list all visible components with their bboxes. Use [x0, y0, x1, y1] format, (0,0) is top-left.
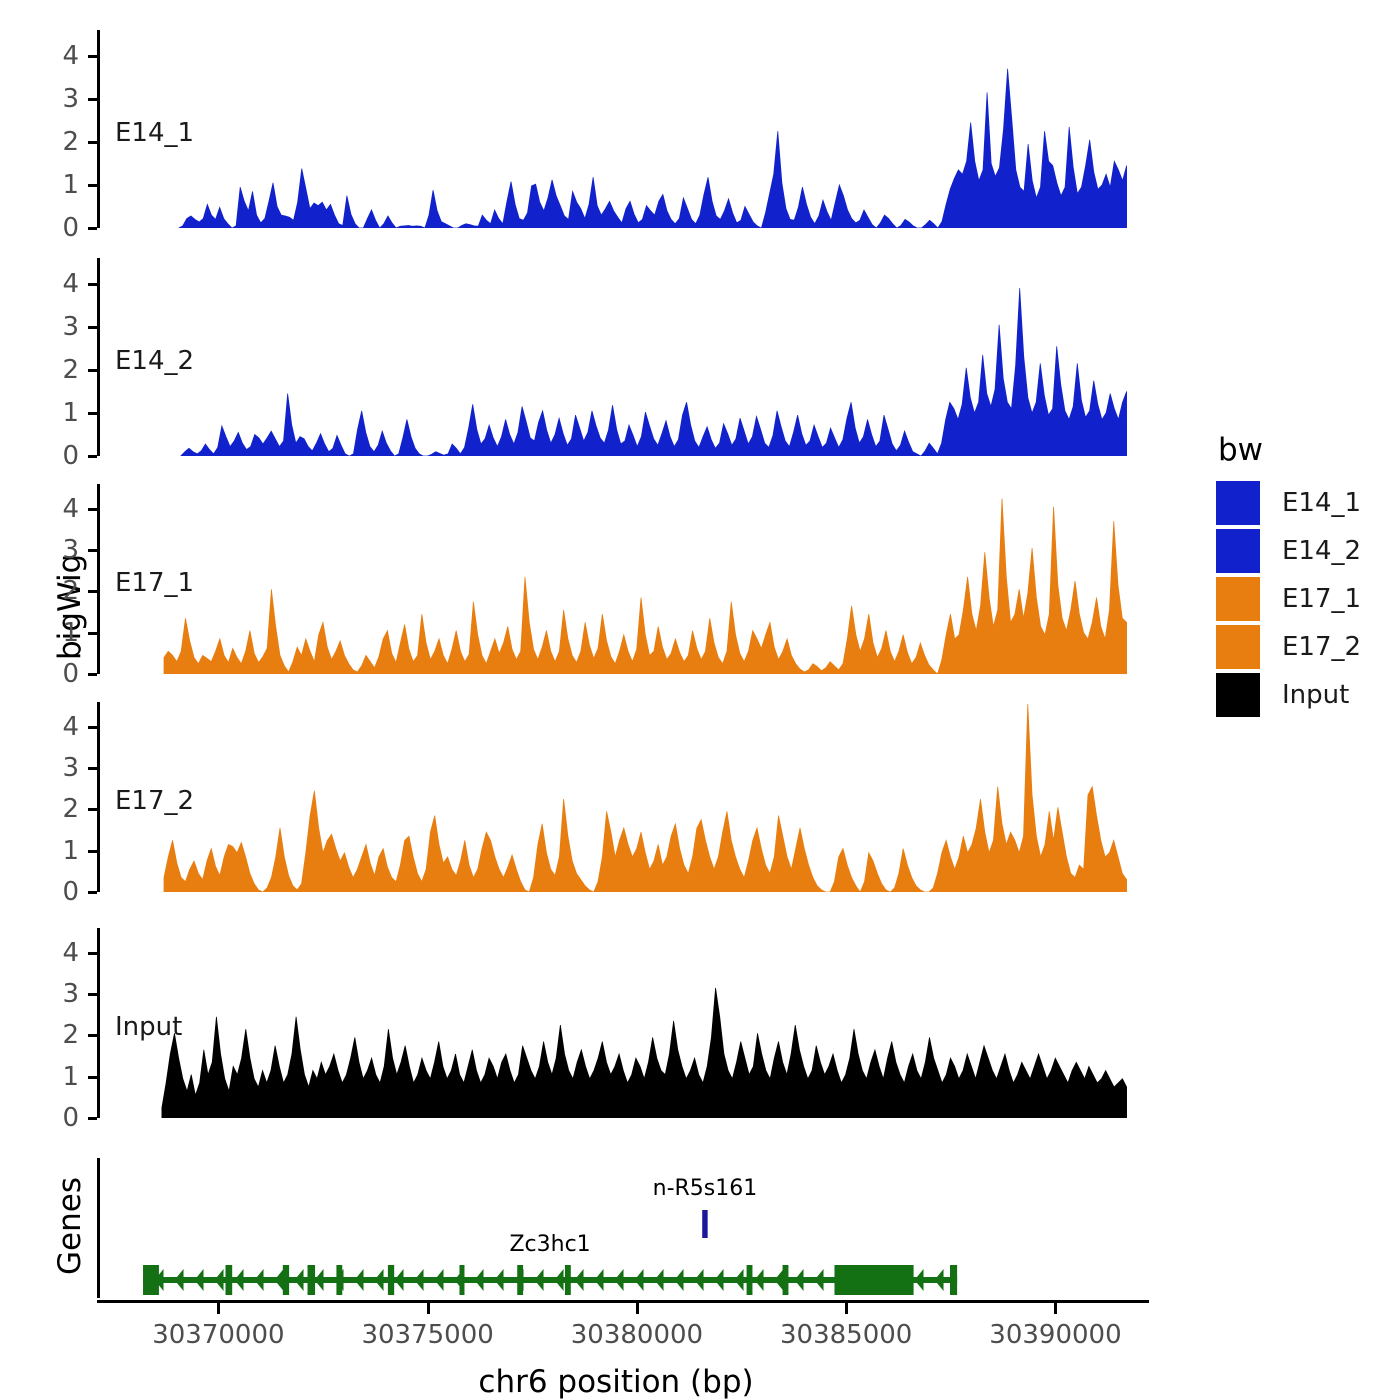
ncrna-feature	[702, 1210, 707, 1238]
gene-exon	[747, 1265, 753, 1295]
y-tick	[88, 673, 97, 676]
y-tick-label: 4	[29, 938, 79, 968]
y-tick-label: 4	[29, 494, 79, 524]
strand-arrow	[715, 1269, 724, 1291]
y-tick-label: 1	[29, 836, 79, 866]
track-area-e17_2	[97, 702, 1135, 892]
y-tick-label: 4	[29, 269, 79, 299]
x-tick	[217, 1303, 220, 1314]
y-tick-label: 4	[29, 41, 79, 71]
y-tick	[88, 891, 97, 894]
legend-label: E17_1	[1282, 584, 1361, 614]
track-panel-e14_1: 01234E14_1	[97, 30, 1135, 228]
strand-arrow	[915, 1269, 924, 1291]
x-tick	[427, 1303, 430, 1314]
x-tick	[636, 1303, 639, 1314]
strand-arrow	[535, 1269, 544, 1291]
y-tick	[88, 55, 97, 58]
y-tick-label: 4	[29, 712, 79, 742]
y-tick	[88, 412, 97, 415]
y-tick-label: 2	[29, 576, 79, 606]
y-tick-label: 2	[29, 127, 79, 157]
y-tick-label: 0	[29, 441, 79, 471]
x-axis-line	[97, 1300, 1149, 1303]
y-tick	[88, 767, 97, 770]
strand-arrow	[735, 1269, 744, 1291]
y-tick-label: 3	[29, 312, 79, 342]
legend-title: bw	[1218, 432, 1361, 468]
legend: bw E14_1E14_2E17_1E17_2Input	[1216, 432, 1361, 720]
strand-arrow	[275, 1269, 284, 1291]
y-tick-label: 0	[29, 213, 79, 243]
gene-exon	[308, 1265, 316, 1295]
legend-swatch-e17_1	[1216, 577, 1260, 621]
strand-arrow	[575, 1269, 584, 1291]
legend-swatch-e14_2	[1216, 529, 1260, 573]
strand-arrow	[475, 1269, 484, 1291]
y-tick	[88, 369, 97, 372]
y-tick	[88, 952, 97, 955]
track-area-input	[97, 928, 1135, 1118]
y-tick	[88, 326, 97, 329]
gene-label-zc3hc1: Zc3hc1	[509, 1232, 590, 1257]
y-tick	[88, 141, 97, 144]
y-tick-label: 0	[29, 1103, 79, 1133]
legend-items: E14_1E14_2E17_1E17_2Input	[1216, 480, 1361, 718]
gene-exon	[388, 1265, 394, 1295]
gene-exon	[283, 1265, 289, 1295]
y-tick-label: 1	[29, 170, 79, 200]
legend-item-e14_2[interactable]: E14_2	[1216, 528, 1361, 574]
x-tick	[845, 1303, 848, 1314]
track-panel-input: 01234Input	[97, 928, 1135, 1118]
y-tick-label: 1	[29, 398, 79, 428]
strand-arrow	[595, 1269, 604, 1291]
x-axis-title: chr6 position (bp)	[478, 1364, 753, 1400]
gene-exon	[565, 1265, 571, 1295]
track-panel-e17_2: 01234E17_2	[97, 702, 1135, 892]
y-tick	[88, 508, 97, 511]
legend-item-e17_1[interactable]: E17_1	[1216, 576, 1361, 622]
strand-arrow	[235, 1269, 244, 1291]
strand-arrow	[215, 1269, 224, 1291]
y-tick-label: 3	[29, 84, 79, 114]
strand-arrow	[195, 1269, 204, 1291]
legend-label: E17_2	[1282, 632, 1361, 662]
strand-arrow	[775, 1269, 784, 1291]
y-tick	[88, 726, 97, 729]
track-area-e17_1	[97, 484, 1135, 674]
strand-arrow	[815, 1269, 824, 1291]
y-tick	[88, 1117, 97, 1120]
y-tick	[88, 184, 97, 187]
strand-arrow	[635, 1269, 644, 1291]
track-panel-e17_1: 01234E17_1	[97, 484, 1135, 674]
strand-arrow	[295, 1269, 304, 1291]
y-tick-label: 3	[29, 535, 79, 565]
y-tick	[88, 98, 97, 101]
legend-item-e14_1[interactable]: E14_1	[1216, 480, 1361, 526]
strand-arrow	[615, 1269, 624, 1291]
legend-label: Input	[1282, 680, 1349, 710]
track-panel-e14_2: 01234E14_2	[97, 258, 1135, 456]
legend-swatch-e14_1	[1216, 481, 1260, 525]
track-area-e14_2	[97, 258, 1135, 456]
y-tick-label: 2	[29, 1020, 79, 1050]
strand-arrow	[395, 1269, 404, 1291]
strand-arrow	[555, 1269, 564, 1291]
legend-swatch-input	[1216, 673, 1260, 717]
y-tick-label: 2	[29, 355, 79, 385]
genes-axis-line	[97, 1158, 100, 1298]
strand-arrow	[255, 1269, 264, 1291]
legend-label: E14_1	[1282, 488, 1361, 518]
x-tick-label: 30390000	[989, 1320, 1121, 1350]
y-tick-label: 3	[29, 979, 79, 1009]
legend-swatch-e17_2	[1216, 625, 1260, 669]
track-area-e14_1	[97, 30, 1135, 228]
y-tick	[88, 227, 97, 230]
x-tick-label: 30385000	[780, 1320, 912, 1350]
x-tick	[1054, 1303, 1057, 1314]
y-tick	[88, 850, 97, 853]
y-tick	[88, 1034, 97, 1037]
y-tick	[88, 455, 97, 458]
y-tick	[88, 549, 97, 552]
strand-arrow	[435, 1269, 444, 1291]
strand-arrow	[355, 1269, 364, 1291]
y-tick	[88, 1076, 97, 1079]
y-tick	[88, 808, 97, 811]
y-tick-label: 1	[29, 1062, 79, 1092]
y-tick	[88, 590, 97, 593]
strand-arrow	[175, 1269, 184, 1291]
strand-arrow	[315, 1269, 324, 1291]
y-tick-label: 0	[29, 659, 79, 689]
strand-arrow	[415, 1269, 424, 1291]
strand-arrow	[455, 1269, 464, 1291]
genes-panel: n-R5s161Zc3hc1	[0, 1158, 1400, 1298]
strand-arrow	[655, 1269, 664, 1291]
gene-label-n-r5s161: n-R5s161	[653, 1176, 758, 1201]
y-tick	[88, 993, 97, 996]
y-tick-label: 1	[29, 618, 79, 648]
strand-arrow	[675, 1269, 684, 1291]
legend-label: E14_2	[1282, 536, 1361, 566]
y-tick-label: 3	[29, 753, 79, 783]
strand-arrow	[755, 1269, 764, 1291]
strand-arrow	[935, 1269, 944, 1291]
gene-exon	[225, 1265, 232, 1295]
x-tick-label: 30370000	[152, 1320, 284, 1350]
y-tick	[88, 283, 97, 286]
y-tick-label: 2	[29, 794, 79, 824]
legend-item-input[interactable]: Input	[1216, 672, 1361, 718]
strand-arrow	[375, 1269, 384, 1291]
x-tick-label: 30380000	[571, 1320, 703, 1350]
y-tick-label: 0	[29, 877, 79, 907]
y-tick	[88, 632, 97, 635]
strand-arrow	[795, 1269, 804, 1291]
strand-arrow	[695, 1269, 704, 1291]
x-tick-label: 30375000	[361, 1320, 493, 1350]
gene-exon	[950, 1265, 957, 1295]
strand-arrow	[495, 1269, 504, 1291]
legend-item-e17_2[interactable]: E17_2	[1216, 624, 1361, 670]
